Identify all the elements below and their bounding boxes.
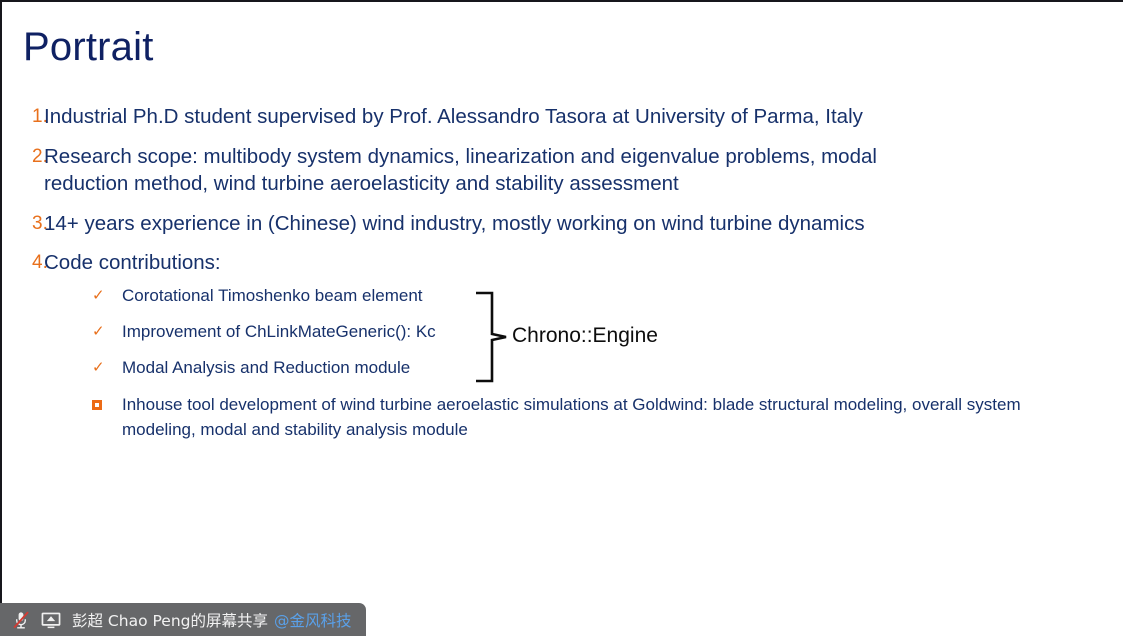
share-session-org: @金风科技: [274, 609, 352, 631]
square-bullet-wrapper: [0, 392, 122, 417]
list-item: 2. Research scope: multibody system dyna…: [0, 143, 1123, 198]
list-item-number: 3.: [0, 210, 44, 237]
list-item-text: 14+ years experience in (Chinese) wind i…: [44, 210, 969, 238]
screen-share-icon[interactable]: [38, 608, 64, 632]
list-item-text: Code contributions:: [44, 249, 969, 277]
slide-top-border: [0, 0, 1123, 2]
sub-list-item: Inhouse tool development of wind turbine…: [0, 392, 1123, 442]
brace-annotation-group: Chrono::Engine: [470, 290, 730, 385]
list-item-text: Research scope: multibody system dynamic…: [44, 143, 969, 198]
numbered-list: 1. Industrial Ph.D student supervised by…: [0, 103, 1123, 289]
check-icon: ✓: [0, 283, 122, 308]
check-icon: ✓: [0, 355, 122, 380]
page-title: Portrait: [23, 22, 154, 72]
list-item: 4. Code contributions:: [0, 249, 1123, 277]
brace-label: Chrono::Engine: [512, 323, 658, 349]
list-item: 3. 14+ years experience in (Chinese) win…: [0, 210, 1123, 238]
check-icon: ✓: [0, 319, 122, 344]
share-session-title: 彭超 Chao Peng的屏幕共享: [72, 609, 268, 631]
list-item-number: 4.: [0, 249, 44, 276]
list-item-text: Industrial Ph.D student supervised by Pr…: [44, 103, 969, 131]
square-bullet-icon: [92, 400, 102, 410]
microphone-muted-icon[interactable]: [8, 608, 34, 632]
presentation-slide: Portrait 1. Industrial Ph.D student supe…: [0, 0, 1123, 636]
list-item-number: 2.: [0, 143, 44, 170]
list-item: 1. Industrial Ph.D student supervised by…: [0, 103, 1123, 131]
list-item-number: 1.: [0, 103, 44, 130]
screen-share-status-bar[interactable]: 彭超 Chao Peng的屏幕共享 @金风科技: [0, 603, 366, 636]
sub-list-item-text: Inhouse tool development of wind turbine…: [122, 392, 1027, 442]
